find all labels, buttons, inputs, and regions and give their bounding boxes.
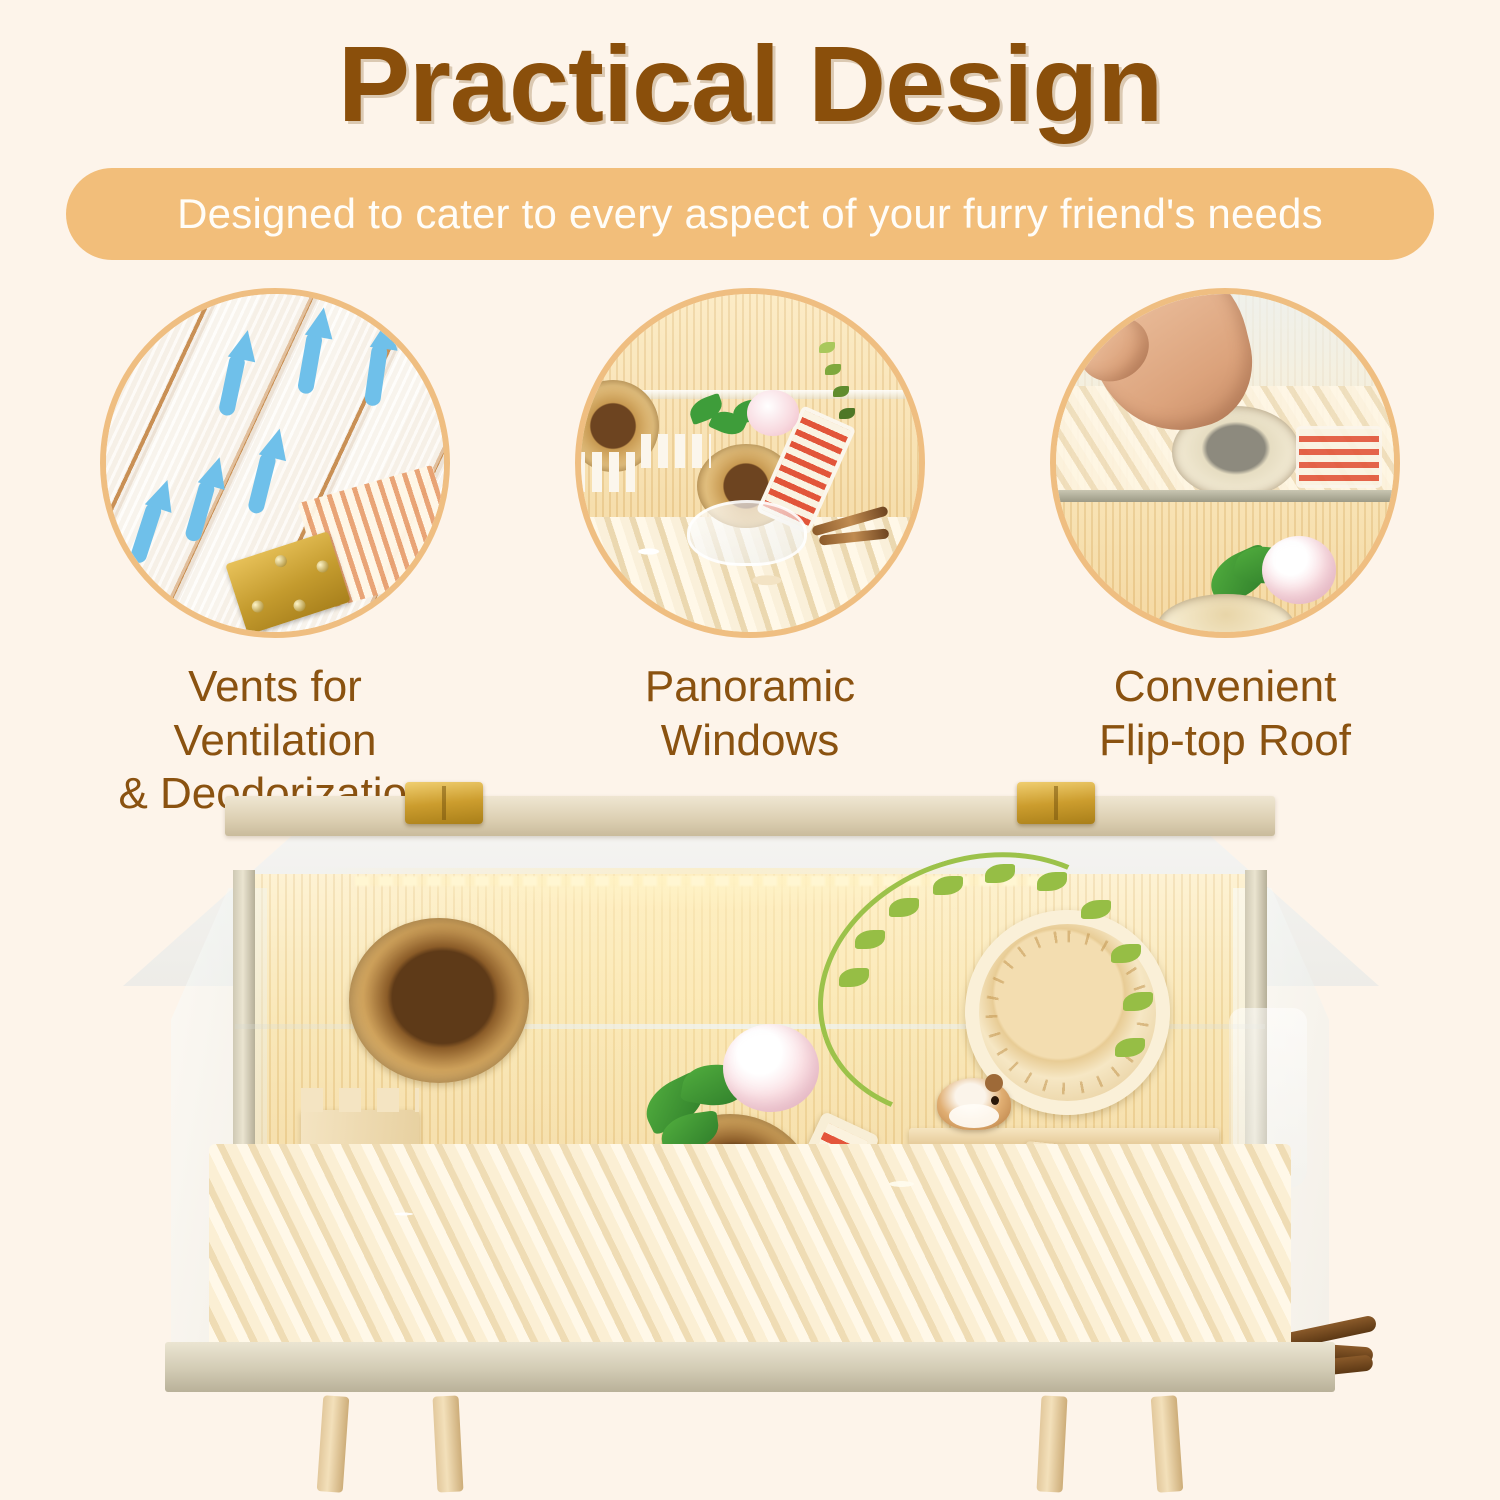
striped-ramp (1296, 426, 1382, 488)
caption-line-2: Flip-top Roof (1099, 714, 1351, 768)
tapered-wooden-leg (1037, 1395, 1068, 1492)
feature-panoramic-windows-caption: Panoramic Windows (645, 660, 855, 767)
product-photo (0, 778, 1500, 1500)
grass-nest-upper (349, 918, 529, 1083)
caption-line-1: Convenient (1099, 660, 1351, 714)
feature-flip-top-roof-image (1050, 288, 1400, 638)
picket-fence (641, 434, 711, 468)
feature-ventilation-image (100, 288, 450, 638)
cage-base-rail (165, 1342, 1335, 1392)
feature-row: Vents for Ventilation & Deodorization (0, 288, 1500, 821)
tapered-wooden-leg (1151, 1395, 1184, 1493)
feature-flip-top-roof-caption: Convenient Flip-top Roof (1099, 660, 1351, 767)
roof-frame-edge (1056, 490, 1394, 502)
hamster-on-platform (937, 1078, 1011, 1130)
brass-hinge-left-icon (405, 782, 483, 824)
tapered-wooden-leg (433, 1395, 464, 1492)
page-title: Practical Design (0, 22, 1500, 146)
picket-fence (581, 452, 635, 492)
sand-bath-dome (687, 500, 807, 566)
subtitle-text: Designed to cater to every aspect of you… (177, 190, 1323, 238)
subtitle-banner: Designed to cater to every aspect of you… (66, 168, 1434, 260)
caption-line-1: Vents for Ventilation (100, 660, 450, 767)
vent-slats-photo (106, 294, 444, 632)
tapered-wooden-leg (317, 1395, 350, 1493)
cage-body (175, 828, 1325, 1398)
caption-line-2: Windows (645, 714, 855, 768)
feature-flip-top-roof: Convenient Flip-top Roof (1050, 288, 1400, 821)
artificial-rose (723, 1024, 819, 1112)
cage-interior-photo (581, 294, 919, 632)
hanging-vine (815, 856, 1145, 1116)
flip-top-roof-photo (1056, 294, 1394, 632)
brass-hinge-right-icon (1017, 782, 1095, 824)
feature-panoramic-windows-image (575, 288, 925, 638)
hamster-cage (105, 788, 1395, 1488)
feature-ventilation: Vents for Ventilation & Deodorization (100, 288, 450, 821)
artificial-rose (1262, 536, 1336, 604)
feature-panoramic-windows: Panoramic Windows (575, 288, 925, 821)
wood-shaving-bedding (209, 1144, 1291, 1344)
caption-line-1: Panoramic (645, 660, 855, 714)
artificial-rose (747, 390, 799, 436)
